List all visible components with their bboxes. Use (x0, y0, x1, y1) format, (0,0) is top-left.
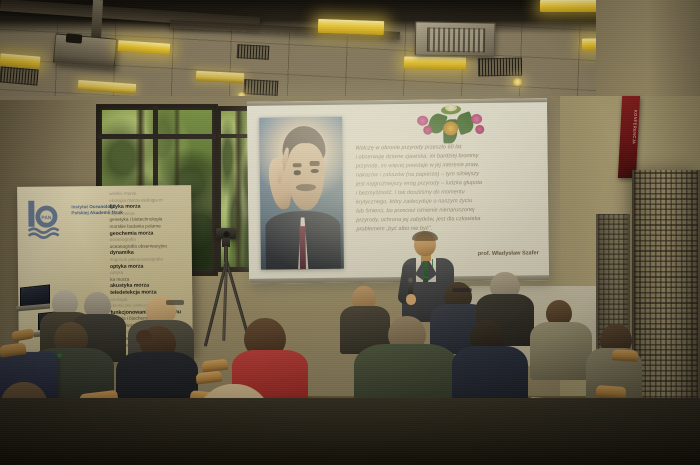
ceiling-air-vent (0, 66, 39, 85)
slide-quote-text: Walczę w obronie przyrody przeszło 60 la… (355, 142, 538, 234)
ceiling-ac-unit (415, 21, 496, 56)
red-banner-text: KONFERENCJA (621, 110, 639, 144)
ceiling-light-panel (404, 56, 466, 69)
chair-armrest (596, 385, 627, 399)
camera-lens-icon (223, 231, 230, 238)
eyeglasses-icon (166, 300, 184, 305)
ceiling-light-panel (318, 19, 384, 35)
speaker-hand (406, 294, 416, 305)
floor-shadow (0, 398, 700, 465)
ceiling-air-vent (244, 79, 279, 96)
speaker-hair (412, 231, 438, 241)
chair-armrest (612, 349, 639, 361)
conference-hall-photo: Walczę w obronie przyrody przeszło 60 la… (0, 0, 700, 465)
ceiling-downlight (512, 78, 523, 86)
microphone-head-icon (406, 276, 415, 284)
ceiling-projector (53, 33, 117, 68)
projector-mount (91, 0, 103, 40)
floral-emblem-icon (415, 103, 488, 146)
attendee-body-olive-vest (530, 322, 592, 380)
projector-lens (66, 33, 83, 43)
ceiling-air-vent (478, 58, 522, 77)
portrait-wladyslaw-szafer (259, 117, 344, 270)
eyeglasses-icon (452, 288, 472, 292)
ceiling-air-vent (237, 44, 270, 60)
hair-bun (136, 330, 152, 345)
